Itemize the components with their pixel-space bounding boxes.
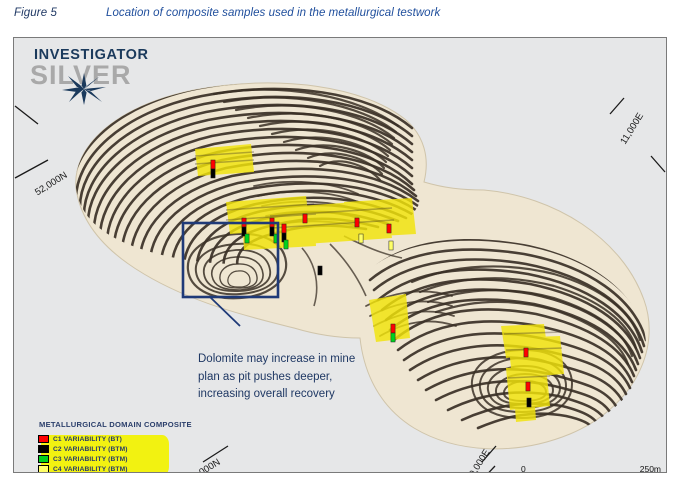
annotation-line-2: plan as pit pushes deeper, <box>198 369 410 387</box>
drill-collar-marker <box>211 160 215 178</box>
legend-label-c1: C1 VARIABILITY (BT) <box>53 436 122 443</box>
annotation-line-3: increasing overall recovery <box>198 386 410 404</box>
drill-collar-marker <box>389 241 393 250</box>
legend-item-c2[interactable]: C2 VARIABILITY (BTM) <box>37 444 169 454</box>
map-figure: SILVER INVESTIGATOR 52,000N 11,000E 51,0… <box>13 37 667 473</box>
drill-collar-marker <box>303 214 307 223</box>
dolomite-annotation: Dolomite may increase in mine plan as pi… <box>198 351 410 404</box>
drill-collar-marker <box>526 382 530 391</box>
drill-collar-marker <box>270 218 274 236</box>
legend-swatch-c2 <box>38 445 49 453</box>
drill-collar-marker <box>524 348 528 357</box>
legend-item-c3[interactable]: C3 VARIABILITY (BTM) <box>37 454 169 464</box>
figure-title: Location of composite samples used in th… <box>106 7 440 19</box>
legend-label-c3: C3 VARIABILITY (BTM) <box>53 456 128 463</box>
legend-swatch-c1 <box>38 435 49 443</box>
scale-bar: 0 250m <box>521 464 661 473</box>
figure-number: Figure 5 <box>14 7 57 19</box>
legend-items: C1 VARIABILITY (BT) C2 VARIABILITY (BTM)… <box>37 434 169 473</box>
map-legend: METALLURGICAL DOMAIN COMPOSITE C1 VARIAB… <box>27 420 217 473</box>
scale-label-min: 0 <box>521 464 526 473</box>
drill-collar-marker <box>355 218 359 227</box>
drill-collar-marker <box>527 398 531 407</box>
legend-swatch-c3 <box>38 455 49 463</box>
legend-swatch-c4 <box>38 465 49 473</box>
legend-item-c1[interactable]: C1 VARIABILITY (BT) <box>37 434 169 444</box>
composite-polygon <box>514 392 536 422</box>
drill-collar-marker <box>245 234 249 243</box>
pit-contour-map <box>14 38 666 472</box>
drill-collar-marker <box>284 240 288 249</box>
legend-label-c4: C4 VARIABILITY (BTM) <box>53 466 128 473</box>
drill-collar-marker <box>359 234 363 243</box>
drill-collar-marker <box>242 218 246 236</box>
annotation-line-1: Dolomite may increase in mine <box>198 351 410 369</box>
legend-title: METALLURGICAL DOMAIN COMPOSITE <box>39 420 217 429</box>
legend-item-c4[interactable]: C4 VARIABILITY (BTM) <box>37 464 169 473</box>
drill-collar-marker <box>387 224 391 233</box>
drill-collar-marker <box>391 324 395 342</box>
legend-label-c2: C2 VARIABILITY (BTM) <box>53 446 128 453</box>
drill-collar-marker <box>282 224 286 242</box>
scale-label-max: 250m <box>640 464 661 473</box>
drill-collar-marker <box>318 266 322 275</box>
figure-caption: Figure 5 Location of composite samples u… <box>0 0 679 34</box>
composite-polygon <box>369 294 410 342</box>
